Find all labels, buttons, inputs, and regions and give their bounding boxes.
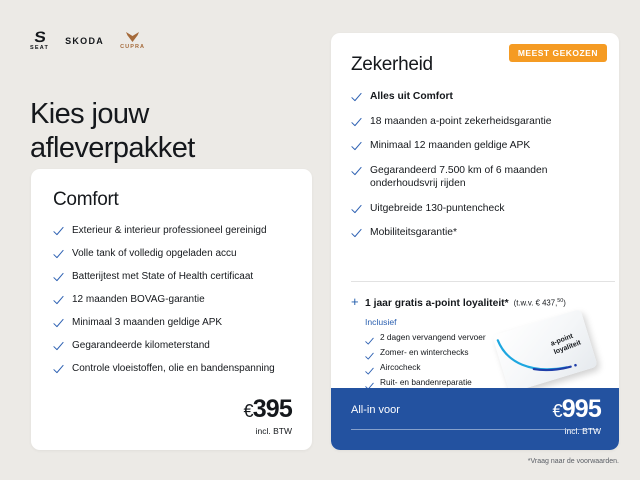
check-icon <box>351 117 362 128</box>
comfort-title: Comfort <box>53 189 118 211</box>
page-title: Kies jouw afleverpakket <box>30 97 310 165</box>
comfort-feature-list: Exterieur & interieur professioneel gere… <box>53 224 297 375</box>
list-item-label: Volle tank of volledig opgeladen accu <box>72 247 237 260</box>
list-item: Uitgebreide 130-puntencheck <box>351 202 607 216</box>
list-item: 18 maanden a-point zekerheidsgarantie <box>351 115 607 129</box>
list-item: Mobiliteitsgarantie* <box>351 226 607 240</box>
list-item-label: Uitgebreide 130-puntencheck <box>370 202 505 216</box>
zekerheid-feature-list: Alles uit Comfort 18 maanden a-point zek… <box>351 90 607 251</box>
list-item-label: Minimaal 12 maanden geldige APK <box>370 139 530 153</box>
list-item-label: 18 maanden a-point zekerheidsgarantie <box>370 115 551 129</box>
loyalty-value: (t.w.v. € 437,50) <box>514 298 566 308</box>
currency-symbol: € <box>243 401 252 421</box>
list-item-label: Mobiliteitsgarantie* <box>370 226 457 240</box>
check-icon <box>351 92 362 103</box>
check-icon <box>53 364 64 375</box>
loyalty-value-suffix: ) <box>563 299 566 308</box>
package-card-zekerheid[interactable]: MEEST GEKOZEN Zekerheid Alles uit Comfor… <box>331 33 619 450</box>
list-item: Minimaal 3 maanden geldige APK <box>53 316 297 329</box>
plus-icon: + <box>351 295 365 308</box>
cupra-wordmark: CUPRA <box>120 45 145 51</box>
zekerheid-price-note: incl. BTW <box>552 426 601 436</box>
brand-logo-bar: S SEAT SKODA CUPRA <box>30 30 145 52</box>
skoda-logo: SKODA <box>65 36 104 46</box>
check-icon <box>365 363 374 372</box>
check-icon <box>53 272 64 283</box>
check-icon <box>351 204 362 215</box>
check-icon <box>365 378 374 387</box>
list-item-label: Gegarandeerde kilometerstand <box>72 339 210 352</box>
comfort-price: €395 <box>243 396 292 425</box>
package-card-comfort[interactable]: Comfort Exterieur & interieur profession… <box>31 169 312 450</box>
check-icon <box>351 228 362 239</box>
price-value: 395 <box>253 395 292 423</box>
allin-price-bar: All-in voor €995 incl. BTW <box>331 388 619 450</box>
seat-wordmark: SEAT <box>30 46 49 52</box>
zekerheid-price: €995 <box>552 396 601 425</box>
list-item: Gegarandeerde kilometerstand <box>53 339 297 352</box>
loyalty-header: + 1 jaar gratis a-point loyaliteit* (t.w… <box>351 295 615 309</box>
cupra-logo: CUPRA <box>120 31 145 51</box>
check-icon <box>53 249 64 260</box>
list-item-label: Minimaal 3 maanden geldige APK <box>72 316 222 329</box>
loyalty-value-prefix: (t.w.v. € 437, <box>514 299 558 308</box>
list-item-label: 12 maanden BOVAG-garantie <box>72 293 205 306</box>
list-item-label: Ruit- en bandenreparatie <box>380 377 472 387</box>
check-icon <box>351 141 362 152</box>
check-icon <box>53 341 64 352</box>
section-divider <box>351 281 615 282</box>
check-icon <box>351 166 362 177</box>
list-item: Exterieur & interieur professioneel gere… <box>53 224 297 237</box>
check-icon <box>365 348 374 357</box>
list-item: Volle tank of volledig opgeladen accu <box>53 247 297 260</box>
check-icon <box>53 318 64 329</box>
list-item-label: Aircocheck <box>380 362 421 372</box>
zekerheid-price-block: €995 incl. BTW <box>552 396 601 436</box>
list-item: Controle vloeistoffen, olie en bandenspa… <box>53 362 297 375</box>
cupra-emblem-icon <box>125 31 140 44</box>
seat-emblem-icon: S <box>34 30 46 45</box>
footnote: *Vraag naar de voorwaarden. <box>528 458 619 465</box>
check-icon <box>53 295 64 306</box>
list-item-label: Exterieur & interieur professioneel gere… <box>72 224 267 237</box>
list-item-label: Alles uit Comfort <box>370 90 453 104</box>
currency-symbol: € <box>552 401 561 421</box>
list-item: Minimaal 12 maanden geldige APK <box>351 139 607 153</box>
list-item-label: Gegarandeerd 7.500 km of 6 maanden onder… <box>370 164 607 191</box>
check-icon <box>365 333 374 342</box>
comfort-price-block: €395 incl. BTW <box>243 396 292 436</box>
list-item: Gegarandeerd 7.500 km of 6 maanden onder… <box>351 164 607 191</box>
allin-label: All-in voor <box>351 404 400 416</box>
loyalty-title: 1 jaar gratis a-point loyaliteit* <box>365 298 509 309</box>
check-icon <box>53 226 64 237</box>
list-item-label: 2 dagen vervangend vervoer <box>380 332 486 342</box>
seat-logo: S SEAT <box>30 30 49 52</box>
status-badge: MEEST GEKOZEN <box>509 44 607 62</box>
list-item: Batterijtest met State of Health certifi… <box>53 270 297 283</box>
list-item-label: Controle vloeistoffen, olie en bandenspa… <box>72 362 275 375</box>
list-item-label: Batterijtest met State of Health certifi… <box>72 270 253 283</box>
zekerheid-title: Zekerheid <box>351 54 433 76</box>
price-value: 995 <box>562 395 601 423</box>
list-item-label: Zomer- en winterchecks <box>380 347 469 357</box>
comfort-price-note: incl. BTW <box>243 426 292 436</box>
list-item: Alles uit Comfort <box>351 90 607 104</box>
list-item: 12 maanden BOVAG-garantie <box>53 293 297 306</box>
